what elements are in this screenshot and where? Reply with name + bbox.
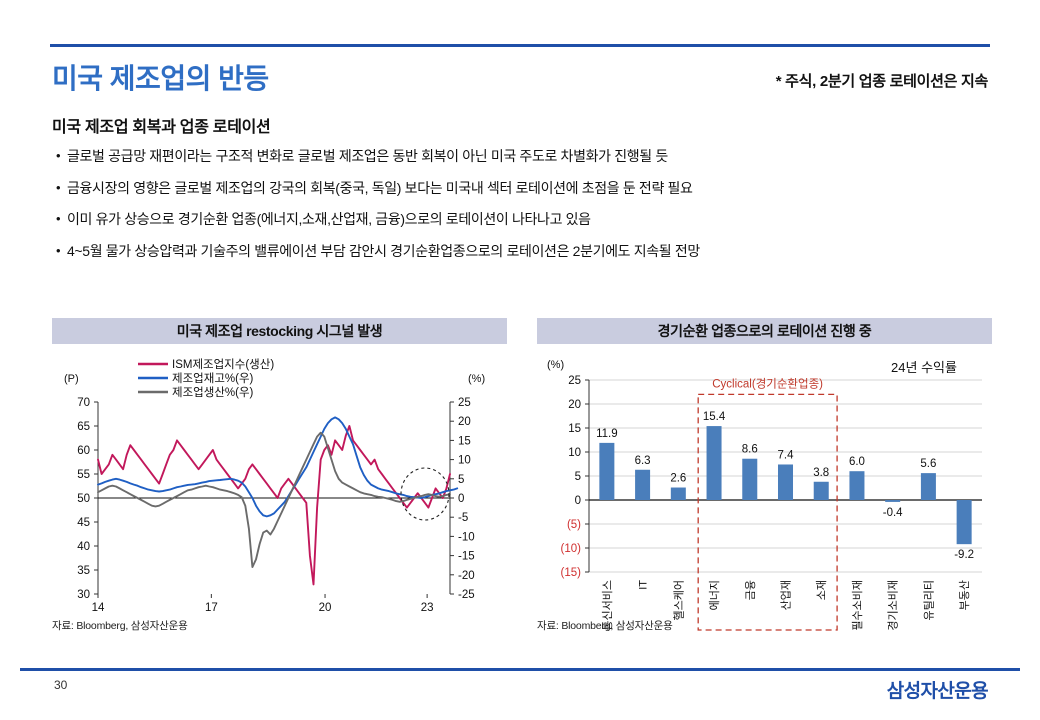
svg-text:에너지: 에너지: [708, 580, 721, 610]
svg-text:-25: -25: [458, 589, 475, 601]
svg-text:부동산: 부동산: [958, 580, 971, 610]
svg-text:(%): (%): [468, 373, 485, 385]
svg-text:헬스케어: 헬스케어: [672, 580, 685, 620]
svg-text:20: 20: [568, 399, 581, 411]
svg-text:-10: -10: [458, 531, 475, 543]
bullet-marker: •: [56, 211, 67, 227]
bullet-text: 4~5월 물가 상승압력과 기술주의 밸류에이션 부담 감안시 경기순환업종으로…: [67, 243, 986, 261]
svg-text:IT: IT: [638, 580, 650, 590]
bullet-marker: •: [56, 180, 67, 196]
bullet-text: 금융시장의 영향은 글로벌 제조업의 강국의 회복(중국, 독일) 보다는 미국…: [67, 180, 986, 198]
svg-text:10: 10: [568, 447, 581, 459]
left-chart-title: 미국 제조업 restocking 시그널 발생: [52, 318, 507, 344]
svg-text:경기소비재: 경기소비재: [887, 580, 900, 631]
svg-text:ISM제조업지수(생산): ISM제조업지수(생산): [172, 358, 274, 371]
svg-text:5: 5: [575, 471, 581, 483]
svg-text:6.0: 6.0: [849, 456, 865, 468]
svg-text:유틸리티: 유틸리티: [922, 580, 935, 620]
svg-text:(15): (15): [561, 567, 582, 579]
page-number: 30: [54, 678, 67, 692]
page-title: 미국 제조업의 반등: [52, 57, 269, 97]
list-item: • 금융시장의 영향은 글로벌 제조업의 강국의 회복(중국, 독일) 보다는 …: [56, 180, 986, 198]
svg-text:45: 45: [77, 517, 90, 529]
svg-text:5: 5: [458, 474, 464, 486]
left-chart-panel: 미국 제조업 restocking 시그널 발생 (P)(%)303540455…: [52, 318, 507, 638]
svg-text:제조업재고%(우): 제조업재고%(우): [172, 372, 254, 385]
svg-text:50: 50: [77, 493, 90, 505]
svg-text:-5: -5: [458, 512, 468, 524]
footer-divider: [20, 668, 1020, 671]
svg-text:30: 30: [77, 589, 90, 601]
svg-text:7.4: 7.4: [778, 449, 795, 461]
svg-text:55: 55: [77, 469, 90, 481]
svg-text:(10): (10): [561, 543, 582, 555]
svg-text:6.3: 6.3: [635, 455, 651, 467]
svg-text:-0.4: -0.4: [883, 507, 903, 519]
line-chart-svg: (P)(%)303540455055606570-25-20-15-10-505…: [52, 344, 507, 644]
svg-text:-20: -20: [458, 570, 475, 582]
bullet-text: 이미 유가 상승으로 경기순환 업종(에너지,소재,산업재, 금융)으로의 로테…: [67, 211, 986, 229]
list-item: • 4~5월 물가 상승압력과 기술주의 밸류에이션 부담 감안시 경기순환업종…: [56, 243, 986, 261]
svg-text:2.6: 2.6: [670, 473, 686, 485]
svg-text:40: 40: [77, 541, 90, 553]
list-item: • 이미 유가 상승으로 경기순환 업종(에너지,소재,산업재, 금융)으로의 …: [56, 211, 986, 229]
bullet-list: • 글로벌 공급망 재편이라는 구조적 변화로 글로벌 제조업은 동반 회복이 …: [56, 148, 986, 274]
svg-text:(%): (%): [547, 359, 564, 371]
page-subtitle: 미국 제조업 회복과 업종 로테이션: [52, 113, 270, 137]
svg-text:5.6: 5.6: [920, 458, 936, 470]
right-chart-panel: 경기순환 업종으로의 로테이션 진행 중 (%)2520151050(5)(10…: [537, 318, 992, 638]
svg-text:3.8: 3.8: [813, 467, 829, 479]
svg-text:Cyclical(경기순환업종): Cyclical(경기순환업종): [712, 376, 823, 390]
svg-text:0: 0: [458, 493, 464, 505]
svg-text:금융: 금융: [744, 580, 757, 600]
svg-text:24년 수익률: 24년 수익률: [891, 360, 957, 375]
svg-text:산업재: 산업재: [780, 580, 793, 610]
svg-text:25: 25: [458, 397, 471, 409]
slide: 미국 제조업의 반등 * 주식, 2분기 업종 로테이션은 지속 미국 제조업 …: [0, 0, 1040, 720]
right-chart-title: 경기순환 업종으로의 로테이션 진행 중: [537, 318, 992, 344]
svg-text:8.6: 8.6: [742, 444, 758, 456]
left-chart-body: (P)(%)303540455055606570-25-20-15-10-505…: [52, 344, 507, 614]
header-note: * 주식, 2분기 업종 로테이션은 지속: [776, 70, 988, 91]
bullet-marker: •: [56, 148, 67, 164]
svg-text:제조업생산%(우): 제조업생산%(우): [172, 386, 254, 399]
svg-text:15: 15: [568, 423, 581, 435]
svg-text:25: 25: [568, 375, 581, 387]
svg-text:(5): (5): [567, 519, 581, 531]
svg-text:-9.2: -9.2: [954, 549, 974, 561]
svg-text:20: 20: [458, 416, 471, 428]
svg-text:14: 14: [92, 602, 105, 614]
svg-text:0: 0: [575, 495, 581, 507]
svg-text:20: 20: [319, 602, 332, 614]
bar-chart-svg: (%)2520151050(5)(10)(15)11.9통신서비스6.3IT2.…: [537, 344, 992, 644]
header-divider: [50, 44, 990, 47]
svg-text:17: 17: [205, 602, 218, 614]
svg-text:10: 10: [458, 455, 471, 467]
bullet-marker: •: [56, 243, 67, 259]
company-logo: 삼성자산운용: [887, 676, 988, 703]
svg-text:(P): (P): [64, 373, 79, 385]
svg-text:필수소비재: 필수소비재: [851, 580, 864, 631]
svg-text:11.9: 11.9: [596, 428, 618, 440]
left-chart-source: 자료: Bloomberg, 삼성자산운용: [52, 618, 188, 633]
svg-text:70: 70: [77, 397, 90, 409]
svg-text:15.4: 15.4: [703, 411, 726, 423]
right-chart-body: (%)2520151050(5)(10)(15)11.9통신서비스6.3IT2.…: [537, 344, 992, 614]
bullet-text: 글로벌 공급망 재편이라는 구조적 변화로 글로벌 제조업은 동반 회복이 아닌…: [67, 148, 986, 166]
svg-text:-15: -15: [458, 551, 475, 563]
svg-text:23: 23: [421, 602, 434, 614]
svg-text:60: 60: [77, 445, 90, 457]
right-chart-source: 자료: Bloomberg, 삼성자산운용: [537, 618, 673, 633]
svg-text:15: 15: [458, 435, 471, 447]
svg-text:65: 65: [77, 421, 90, 433]
svg-text:소재: 소재: [815, 580, 828, 600]
svg-text:35: 35: [77, 565, 90, 577]
list-item: • 글로벌 공급망 재편이라는 구조적 변화로 글로벌 제조업은 동반 회복이 …: [56, 148, 986, 166]
